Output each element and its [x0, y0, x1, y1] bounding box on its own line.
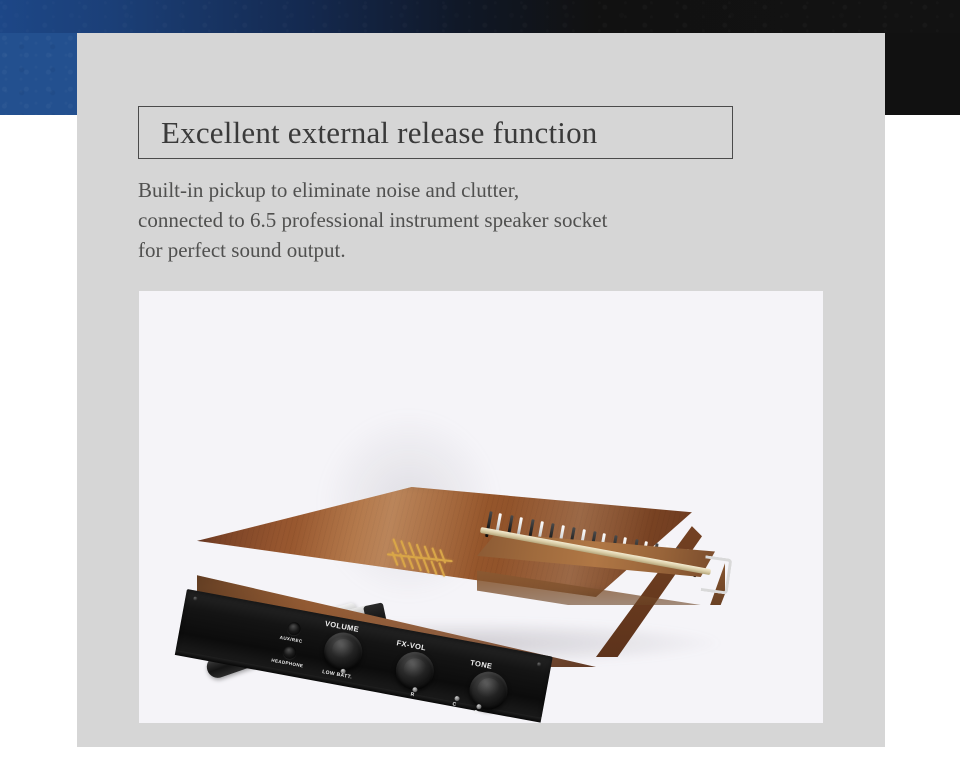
content-card: Excellent external release function Buil… [77, 33, 885, 747]
tine-bracket [701, 555, 733, 594]
product-photo: AUX/REC HEADPHONE VOLUME LOW BATT. FX-VO… [139, 291, 823, 723]
description-line-1: Built-in pickup to eliminate noise and c… [138, 175, 838, 205]
inlay-barb-lower-4 [423, 559, 430, 574]
headphone-label: HEADPHONE [271, 658, 304, 669]
black-accent-block [885, 33, 960, 115]
inlay-barb-upper-1 [400, 540, 407, 555]
inlay-barb-upper-0 [392, 538, 399, 553]
banner-stage: Excellent external release function Buil… [0, 0, 960, 757]
inlay-barb-lower-5 [430, 560, 437, 575]
inlay-barb-lower-6 [438, 562, 445, 577]
blue-block-texture [0, 33, 77, 115]
inlay-barb-upper-2 [408, 542, 415, 557]
panel-screw-left [193, 596, 198, 601]
blue-accent-block [0, 33, 77, 115]
tone-label: TONE [470, 658, 494, 671]
page-title: Excellent external release function [139, 117, 597, 148]
panel-screw-right [537, 662, 542, 667]
aux-rec-jack [286, 621, 301, 636]
top-gradient-bar [0, 0, 960, 33]
description-line-2: connected to 6.5 professional instrument… [138, 205, 838, 235]
top-bar-texture [0, 0, 960, 33]
d-indicator-label: D [474, 709, 479, 716]
product-photo-scene: AUX/REC HEADPHONE VOLUME LOW BATT. FX-VO… [139, 291, 823, 723]
volume-knob[interactable] [321, 629, 365, 673]
c-indicator-led [454, 696, 460, 702]
heading-box: Excellent external release function [138, 106, 733, 159]
aux-rec-label: AUX/REC [279, 635, 303, 644]
headphone-jack [282, 645, 297, 660]
description-line-3: for perfect sound output. [138, 235, 838, 265]
inlay-barb-upper-6 [439, 549, 446, 564]
fx-vol-label: FX-VOL [396, 638, 427, 652]
description-text: Built-in pickup to eliminate noise and c… [138, 175, 838, 265]
tine-bar-assembly [467, 505, 747, 600]
